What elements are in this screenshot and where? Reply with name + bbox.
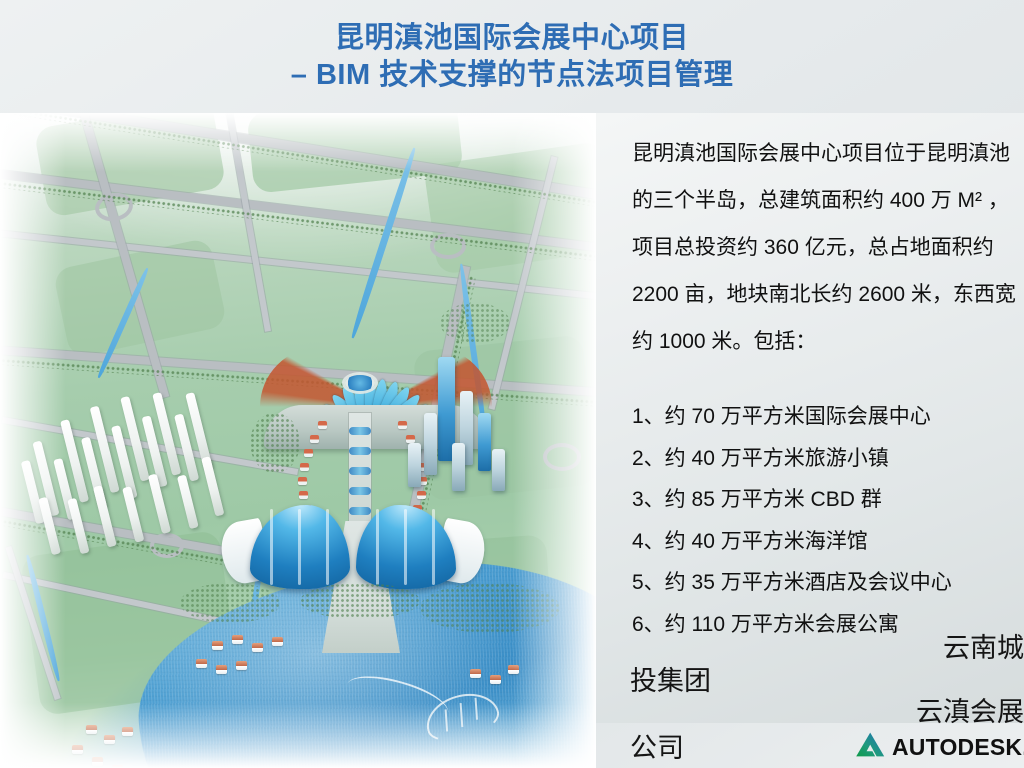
- roundabout: [543, 443, 581, 471]
- low-rise-block: [304, 449, 313, 457]
- list-item: 3、约 85 万平方米 CBD 群: [632, 479, 1024, 521]
- low-rise-block: [298, 477, 307, 485]
- list-item: 2、约 40 万平方米旅游小镇: [632, 438, 1024, 480]
- organization-1-line-2: 投集团: [630, 664, 711, 698]
- shell-rib: [270, 509, 273, 585]
- shell-rib: [298, 509, 301, 585]
- shell-left-dome: [250, 505, 350, 589]
- central-plaza-fountain: [345, 375, 375, 391]
- presentation-slide: 昆明滇池国际会展中心项目 – BIM 技术支撑的节点法项目管理: [0, 0, 1024, 768]
- villa: [272, 637, 283, 646]
- tree-clump: [300, 583, 420, 619]
- low-rise-block: [417, 491, 426, 499]
- aquarium-shell-building: [248, 505, 458, 591]
- list-item: 4、约 40 万平方米海洋馆: [632, 521, 1024, 563]
- low-rise-block: [406, 435, 415, 443]
- shell-rib: [404, 509, 407, 585]
- axis-ornament: [349, 427, 371, 435]
- villa: [490, 675, 501, 684]
- low-rise-block: [318, 421, 327, 429]
- axis-ornament: [349, 447, 371, 455]
- cbd-tower: [452, 443, 465, 491]
- villa: [252, 643, 263, 652]
- autodesk-a-mark-icon: [855, 731, 885, 763]
- list-item: 1、约 70 万平方米国际会展中心: [632, 396, 1024, 438]
- low-rise-block: [310, 435, 319, 443]
- project-components-list: 1、约 70 万平方米国际会展中心 2、约 40 万平方米旅游小镇 3、约 85…: [632, 396, 1024, 645]
- shell-right-dome: [356, 505, 456, 589]
- cbd-tower: [478, 413, 491, 471]
- axis-ornament: [349, 487, 371, 495]
- low-rise-block: [299, 491, 308, 499]
- tree-clump: [420, 583, 560, 633]
- villa: [232, 635, 243, 644]
- cbd-tower: [424, 413, 437, 475]
- tree-clump: [440, 303, 510, 343]
- tower: [177, 475, 199, 530]
- tree-clump: [180, 583, 280, 623]
- villa: [216, 665, 227, 674]
- slide-header: 昆明滇池国际会展中心项目 – BIM 技术支撑的节点法项目管理: [0, 0, 1024, 113]
- villa: [104, 735, 115, 744]
- cbd-tower: [492, 449, 505, 491]
- page-title-line-2: – BIM 技术支撑的节点法项目管理: [291, 57, 733, 94]
- villa: [470, 669, 481, 678]
- organization-2-line-1: 云滇会展: [630, 695, 1024, 729]
- villa: [212, 641, 223, 650]
- villa: [72, 745, 83, 754]
- axis-ornament: [349, 467, 371, 475]
- project-description-paragraph: 昆明滇池国际会展中心项目位于昆明滇池的三个半岛，总建筑面积约 400 万 M² …: [632, 130, 1022, 365]
- villa: [122, 727, 133, 736]
- cbd-tower: [408, 443, 421, 487]
- low-rise-block: [300, 463, 309, 471]
- tower: [201, 456, 224, 516]
- villa: [508, 665, 519, 674]
- low-rise-block: [398, 421, 407, 429]
- tree-clump: [250, 413, 300, 473]
- villa: [86, 725, 97, 734]
- tower: [67, 498, 89, 555]
- list-item: 5、约 35 万平方米酒店及会议中心: [632, 562, 1024, 604]
- shell-rib: [432, 509, 435, 585]
- autodesk-logo: AUTODESK.: [855, 731, 1024, 763]
- villa: [92, 757, 103, 766]
- shell-rib: [326, 509, 329, 585]
- autodesk-wordmark: AUTODESK.: [892, 736, 1024, 759]
- tower: [93, 485, 117, 547]
- villa: [196, 659, 207, 668]
- villa: [236, 661, 247, 670]
- aerial-masterplan-rendering: [0, 113, 596, 768]
- organization-2-line-2: 公司: [630, 731, 684, 765]
- shell-rib: [376, 509, 379, 585]
- organization-1-line-1: 云南城: [630, 631, 1024, 665]
- page-title-line-1: 昆明滇池国际会展中心项目: [335, 20, 689, 57]
